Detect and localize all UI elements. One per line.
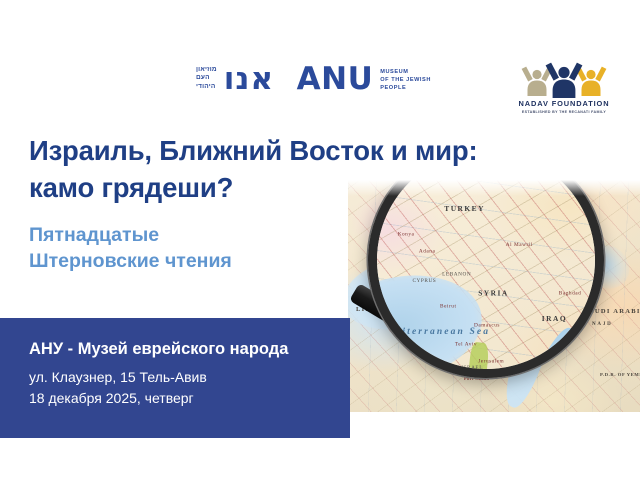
lens-label-cyprus: CYPRUS — [412, 279, 436, 284]
venue-name: АНУ - Музей еврейского народа — [29, 340, 340, 360]
anu-wordmark-hebrew: אנו — [224, 61, 274, 97]
magnified-map-content: TURKEY SYRIA IRAQ CYPRUS LEBANON ISRAEL … — [368, 180, 604, 378]
lens-label-adana: Adana — [419, 249, 435, 254]
map-label-pdr-yemen: P.D.R. OF YEMEN — [600, 372, 640, 377]
lens-label-damascus: Damascus — [474, 323, 500, 328]
nadav-foundation-logo: NADAV FOUNDATION ESTABLISHED BY THE RECA… — [512, 58, 616, 114]
anu-wordmark: אנו ANU — [224, 64, 373, 95]
anu-hebrew-subtext: מוזיאון העם היהודי — [196, 66, 217, 93]
nadav-foundation-subtitle: ESTABLISHED BY THE RECANATI FAMILY — [512, 110, 616, 114]
lens-label-tel-aviv: Tel Aviv — [455, 342, 477, 347]
middle-east-map-photo: LIBYA SAUDI ARABIA NAJD AN NAFUD P.D.R. … — [348, 180, 640, 412]
lens-label-jerusalem: Jerusalem — [478, 359, 504, 364]
event-subtitle: Пятнадцатые Штерновские чтения — [29, 223, 339, 274]
anu-tagline-line-1: MUSEUM — [380, 69, 431, 77]
lens-label-baghdad: Baghdad — [559, 291, 582, 296]
main-title: Израиль, Ближний Восток и мир: камо гряд… — [29, 133, 614, 206]
anu-tagline-line-3: PEOPLE — [380, 85, 431, 93]
anu-hebrew-line-3: היהודי — [196, 83, 216, 91]
logo-row: מוזיאון העם היהודי אנו ANU MUSEUM OF THE… — [0, 0, 640, 125]
anu-tagline: MUSEUM OF THE JEWISH PEOPLE — [380, 66, 431, 93]
nadav-foundation-title: NADAV FOUNDATION — [512, 99, 616, 108]
title-block: Израиль, Ближний Восток и мир: камо гряд… — [29, 133, 614, 206]
map-photo-inner: LIBYA SAUDI ARABIA NAJD AN NAFUD P.D.R. … — [348, 180, 640, 412]
lens-label-israel: ISRAEL — [461, 366, 483, 371]
event-date: 18 декабря 2025, четверг — [29, 388, 340, 409]
lens-label-iraq: IRAQ — [542, 315, 567, 323]
nadav-figures-icon — [512, 58, 616, 98]
anu-tagline-line-2: OF THE JEWISH — [380, 77, 431, 85]
lens-label-al-mawsil: Al Mawsil — [506, 243, 533, 248]
poster-canvas: מוזיאון העם היהודי אנו ANU MUSEUM OF THE… — [0, 0, 640, 480]
lens-label-beirut: Beirut — [440, 304, 456, 309]
lens-label-konya: Konya — [398, 232, 415, 237]
map-label-najd: NAJD — [592, 322, 613, 327]
event-info-banner: АНУ - Музей еврейского народа ул. Клаузн… — [0, 318, 350, 438]
anu-hebrew-line-1: מוזיאון — [196, 66, 217, 74]
event-info-text: АНУ - Музей еврейского народа ул. Клаузн… — [29, 340, 340, 409]
anu-hebrew-line-2: העם — [196, 74, 210, 82]
three-people-icon — [512, 58, 616, 98]
anu-museum-logo: מוזיאון העם היהודי אנו ANU MUSEUM OF THE… — [196, 64, 431, 95]
anu-wordmark-latin: ANU — [297, 61, 374, 97]
lens-label-syria: SYRIA — [478, 289, 509, 297]
lens-label-lebanon: LEBANON — [442, 272, 471, 277]
magnifier-lens: TURKEY SYRIA IRAQ CYPRUS LEBANON ISRAEL … — [368, 180, 604, 378]
venue-address: ул. Клаузнер, 15 Тель-Авив — [29, 367, 340, 388]
